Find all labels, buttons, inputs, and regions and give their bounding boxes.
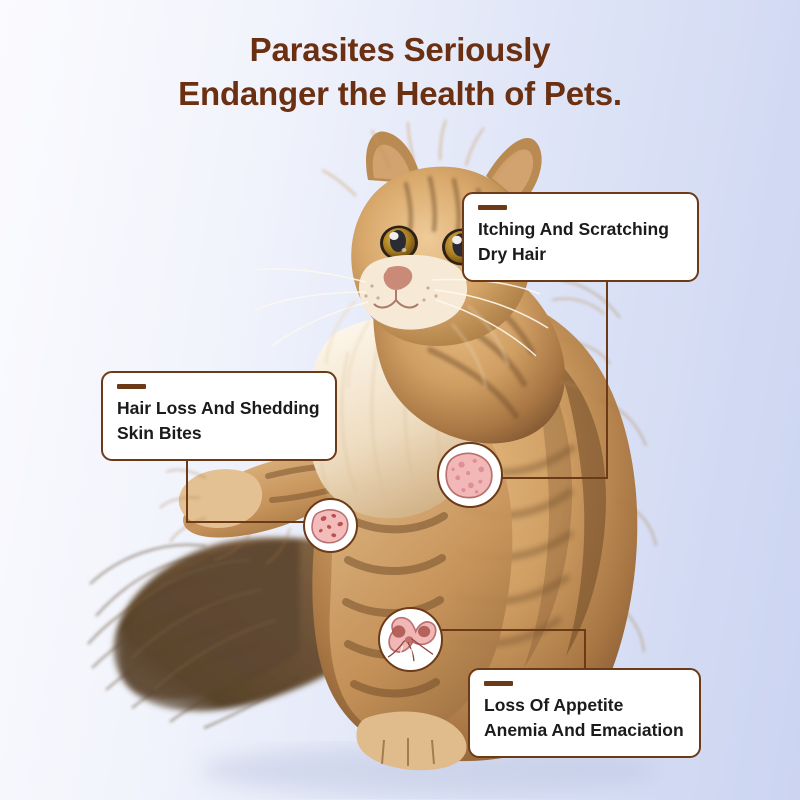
callout-appetite-line-1: Loss Of Appetite	[484, 693, 685, 718]
title-line-2: Endanger the Health of Pets.	[0, 72, 800, 116]
poster-canvas: Parasites Seriously Endanger the Health …	[0, 0, 800, 800]
callout-appetite-line-2: Anemia And Emaciation	[484, 718, 685, 743]
skin-bites-icon	[303, 498, 358, 553]
callout-appetite[interactable]: Loss Of Appetite Anemia And Emaciation	[468, 668, 701, 758]
callout-hair-loss[interactable]: Hair Loss And Shedding Skin Bites	[101, 371, 337, 461]
callout-itching-line-1: Itching And Scratching	[478, 217, 683, 242]
dash-marker-icon	[484, 681, 513, 686]
skin-rash-icon	[437, 442, 503, 508]
title-line-1: Parasites Seriously	[250, 31, 551, 68]
parasite-mite-icon	[378, 607, 443, 672]
callout-hairloss-line-1: Hair Loss And Shedding	[117, 396, 321, 421]
callout-hairloss-line-2: Skin Bites	[117, 421, 321, 446]
callout-itching-line-2: Dry Hair	[478, 242, 683, 267]
poster-title: Parasites Seriously Endanger the Health …	[0, 28, 800, 115]
callout-itching[interactable]: Itching And Scratching Dry Hair	[462, 192, 699, 282]
dash-marker-icon	[117, 384, 146, 389]
dash-marker-icon	[478, 205, 507, 210]
